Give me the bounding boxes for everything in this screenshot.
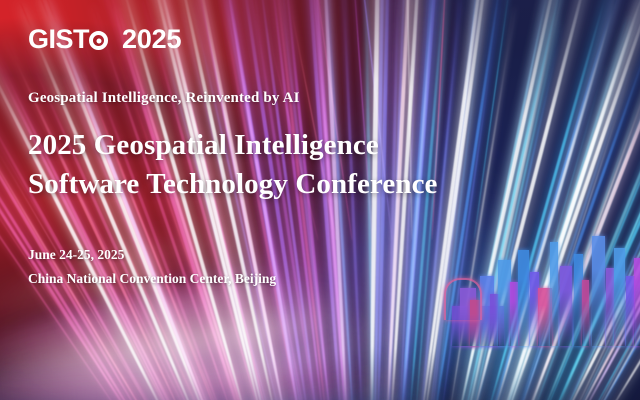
banner-tagline: Geospatial Intelligence, Reinvented by A… [28, 90, 300, 107]
event-venue: China National Convention Center, Beijin… [28, 267, 276, 291]
brand-logo: GIST 2025 [28, 24, 181, 55]
event-date: June 24-25, 2025 [28, 243, 276, 267]
conference-banner: GIST 2025 Geospatial Intelligence, Reinv… [0, 0, 640, 400]
logo-wordmark: GIST [28, 26, 109, 53]
banner-event-details: June 24-25, 2025 China National Conventi… [28, 243, 276, 290]
banner-content: GIST 2025 Geospatial Intelligence, Reinv… [0, 0, 640, 400]
logo-year: 2025 [122, 24, 181, 55]
title-line-2: Software Technology Conference [28, 165, 438, 204]
title-line-1: 2025 Geospatial Intelligence [28, 126, 438, 165]
logo-letters: GIST [28, 26, 89, 53]
banner-title: 2025 Geospatial Intelligence Software Te… [28, 126, 438, 205]
target-location-icon [89, 31, 108, 50]
